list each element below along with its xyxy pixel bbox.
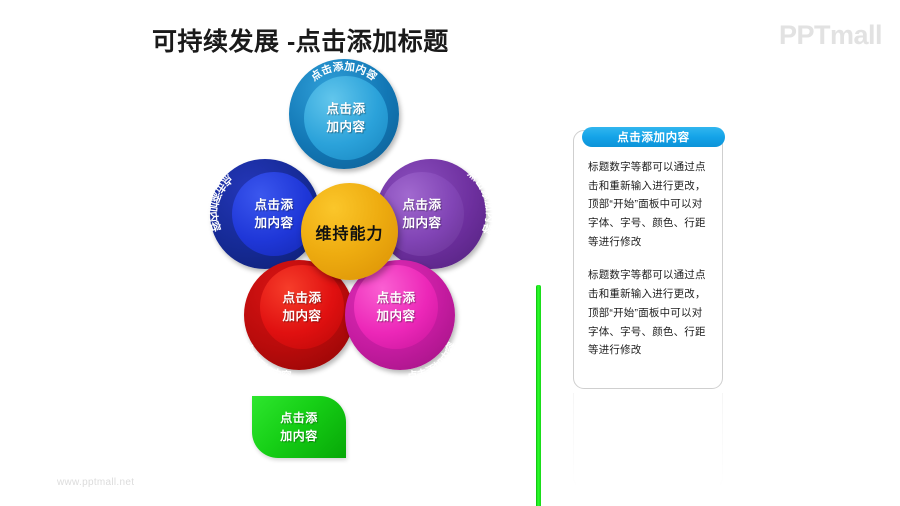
slide-canvas: 可持续发展 -点击添加标题 PPTmall www.pptmall.net 点击… (0, 0, 900, 506)
leaf-label-line2: 加内容 (280, 429, 318, 443)
petal-bottom-left-label-line1: 点击添 (282, 291, 321, 305)
petal-left-arc-label: 点击添加内容 (206, 172, 235, 234)
pptmall-logo: PPTmall (779, 20, 882, 51)
info-panel-reflection (573, 393, 723, 489)
petal-right-arc-label: 点击添加内容 (465, 167, 497, 237)
svg-text:点击添加内容: 点击添加内容 (240, 340, 292, 383)
petal-top-inner[interactable]: 点击添 加内容 (304, 76, 388, 160)
flower-center-hub[interactable]: 维持能力 (301, 183, 398, 280)
info-panel-paragraph-2: 标题数字等都可以通过点击和重新输入进行更改，顶部“开始”面板中可以对字体、字号、… (588, 266, 710, 359)
info-panel-body[interactable]: 标题数字等都可以通过点击和重新输入进行更改，顶部“开始”面板中可以对字体、字号、… (588, 158, 710, 360)
svg-text:点击添加内容: 点击添加内容 (465, 167, 497, 237)
petal-bottom-right-inner[interactable]: 点击添 加内容 (354, 265, 438, 349)
flower-stem (536, 285, 541, 506)
petal-bottom-right-label-line2: 加内容 (376, 309, 415, 323)
petal-top-label-line2: 加内容 (326, 120, 365, 134)
flower-diagram: 点击添加内容 点击添 加内容 点击添加内容 点击添 加内容 (190, 55, 510, 385)
petal-top-label-line1: 点击添 (326, 102, 365, 116)
petal-bottom-left-inner[interactable]: 点击添 加内容 (260, 265, 344, 349)
footer-watermark-url: www.pptmall.net (57, 477, 134, 488)
petal-bottom-right-arc-label: 点击添加内容 (407, 340, 459, 383)
petal-right-label-line1: 点击添 (402, 198, 441, 212)
flower-center-label: 维持能力 (315, 220, 383, 244)
petal-bottom-right-label-line1: 点击添 (376, 291, 415, 305)
petal-bottom-left-label-line2: 加内容 (282, 309, 321, 323)
svg-text:点击添加内容: 点击添加内容 (206, 172, 235, 234)
petal-bottom-left-arc-label: 点击添加内容 (240, 340, 292, 383)
flower-leaf[interactable]: 点击添 加内容 (252, 396, 346, 458)
petal-left-label-line2: 加内容 (254, 216, 293, 230)
petal-left-label-line1: 点击添 (254, 198, 293, 212)
petal-right-label-line2: 加内容 (402, 216, 441, 230)
leaf-label-line1: 点击添 (280, 411, 318, 425)
petal-top[interactable]: 点击添加内容 点击添 加内容 (289, 59, 399, 169)
info-panel-paragraph-1: 标题数字等都可以通过点击和重新输入进行更改，顶部“开始”面板中可以对字体、字号、… (588, 158, 710, 251)
page-title: 可持续发展 -点击添加标题 (152, 22, 449, 58)
info-panel-header[interactable]: 点击添加内容 (582, 127, 725, 147)
svg-text:点击添加内容: 点击添加内容 (407, 340, 459, 383)
